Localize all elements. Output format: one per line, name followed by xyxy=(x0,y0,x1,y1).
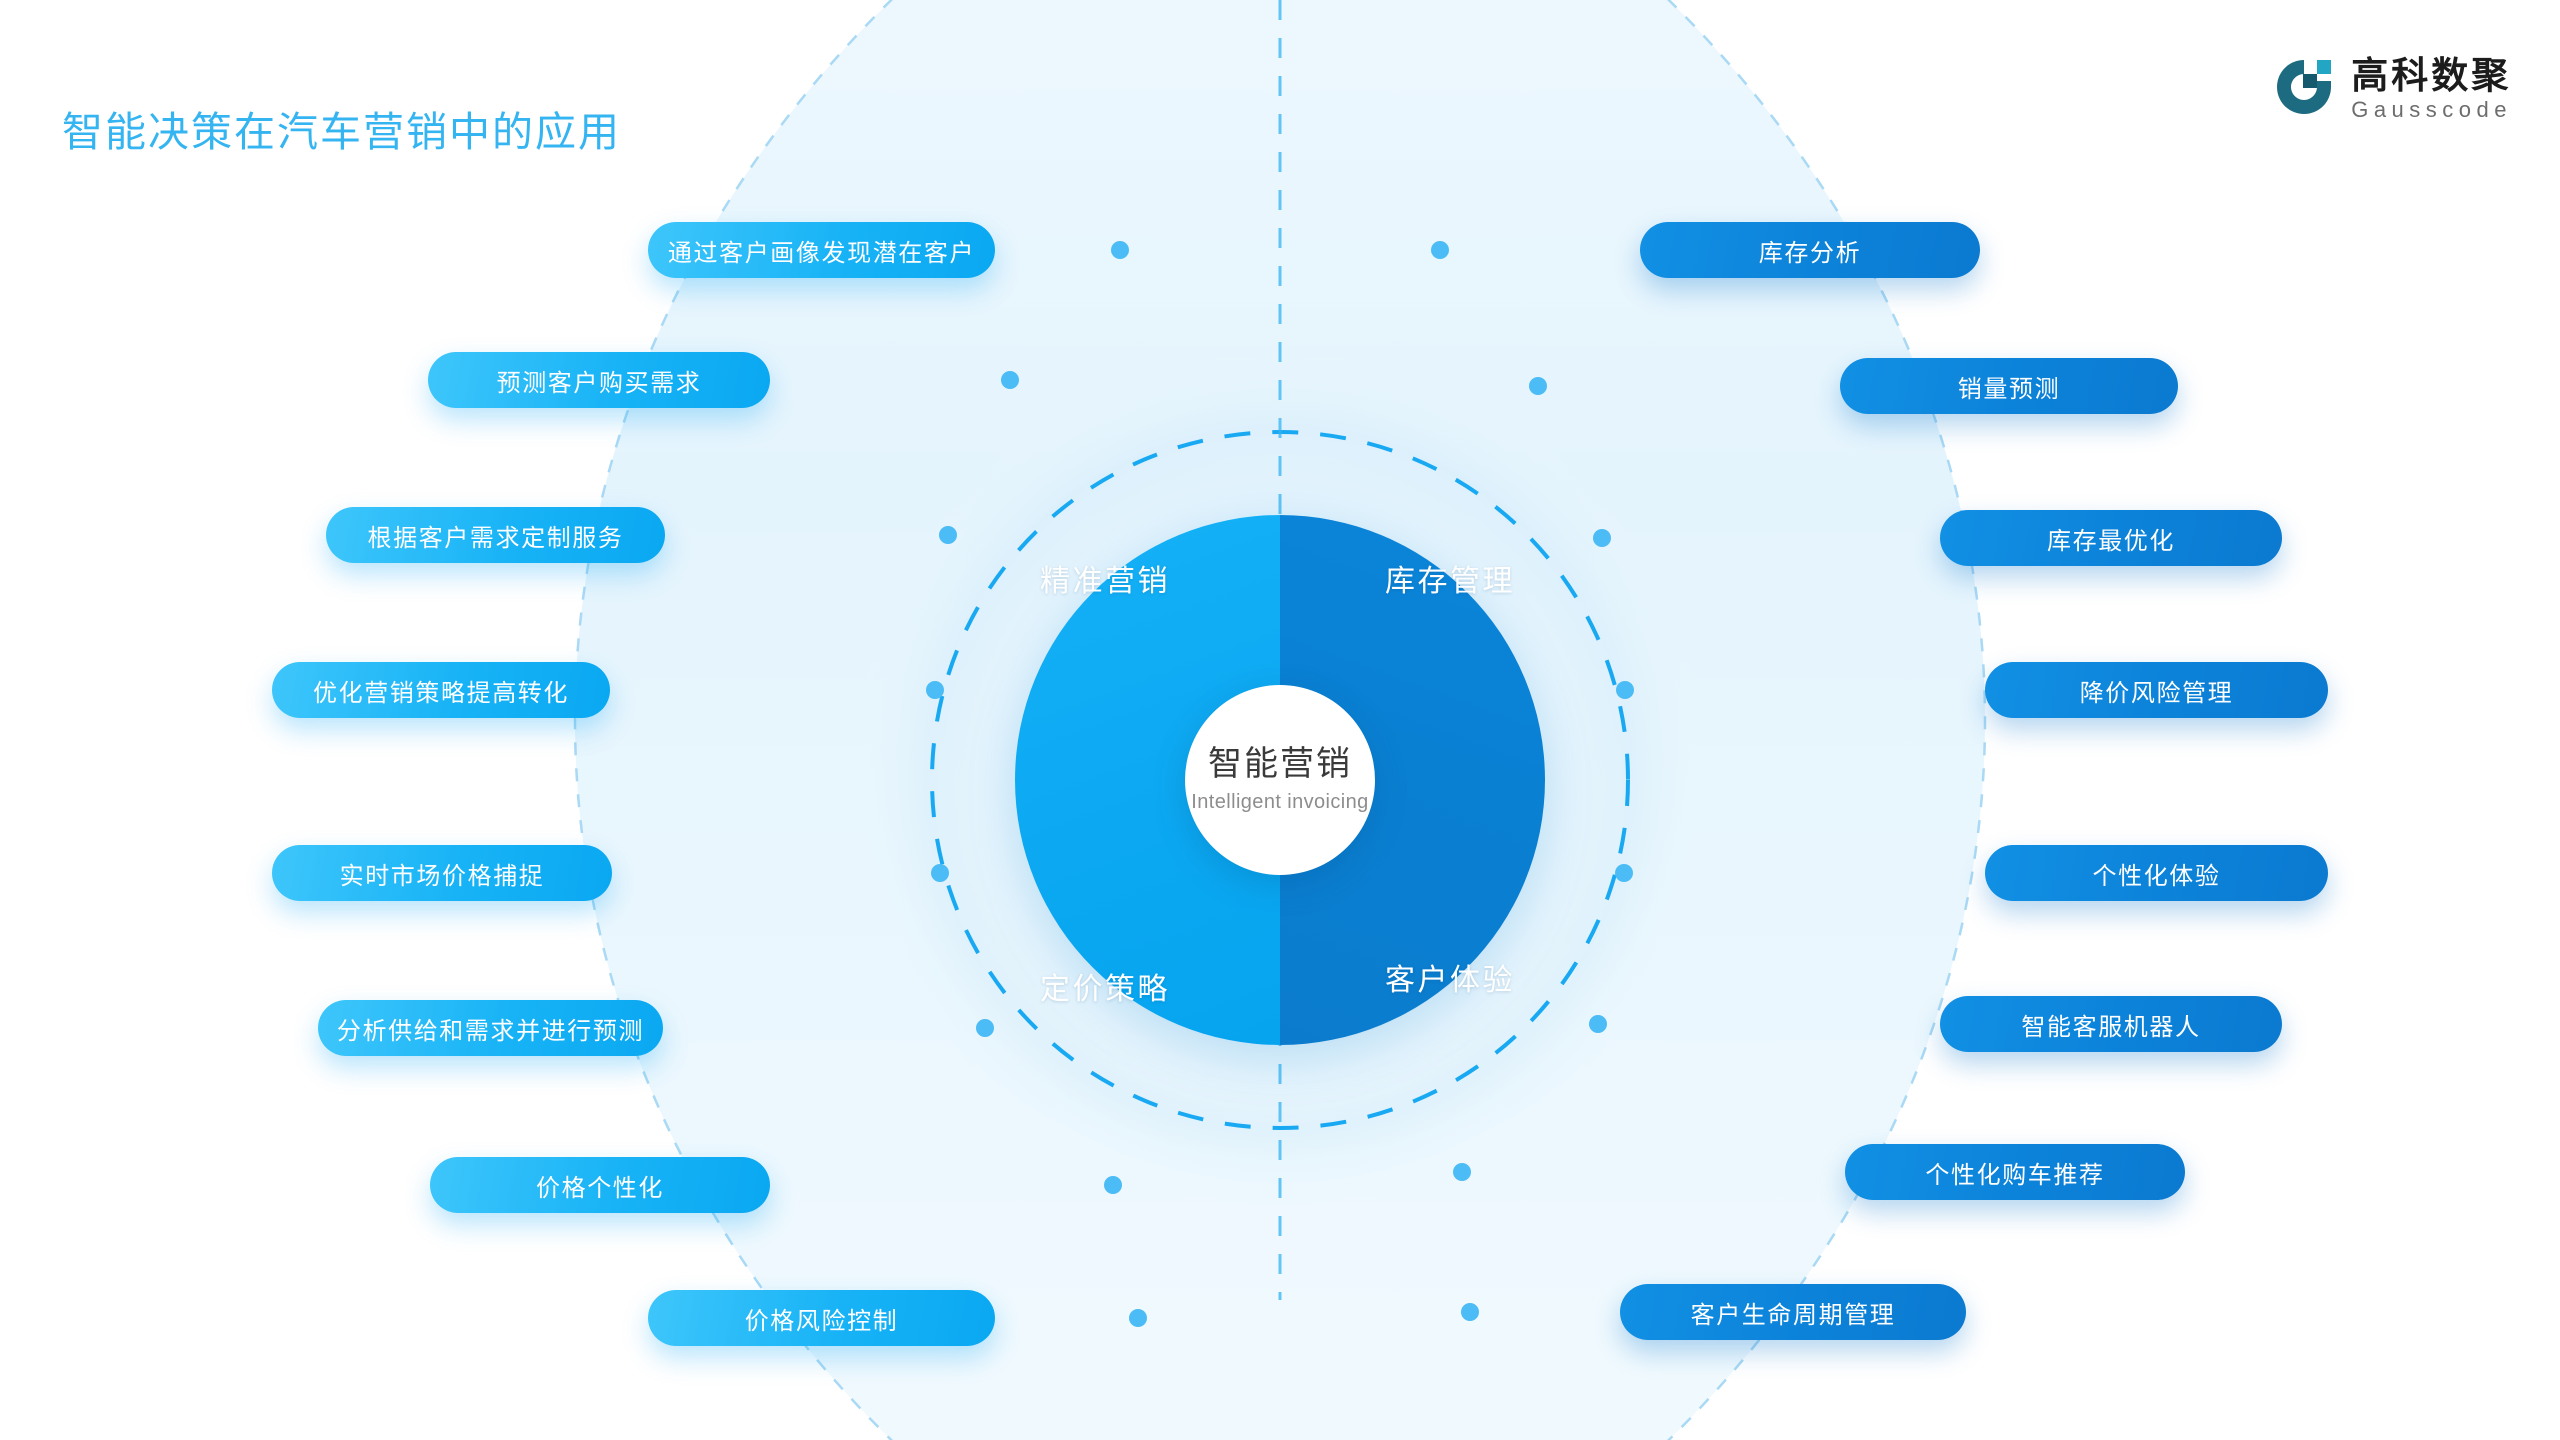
right-item-pill-8[interactable]: 客户生命周期管理 xyxy=(1620,1284,1966,1340)
left-item-pill-7[interactable]: 价格个性化 xyxy=(430,1157,770,1213)
left-item-pill-8[interactable]: 价格风险控制 xyxy=(648,1290,995,1346)
right-item-pill-3[interactable]: 库存最优化 xyxy=(1940,510,2282,566)
quadrant-label-top-right: 库存管理 xyxy=(1385,556,1515,600)
quadrant-label-top-left: 精准营销 xyxy=(1040,556,1170,600)
right-item-pill-4[interactable]: 降价风险管理 xyxy=(1985,662,2328,718)
center-title-cn: 智能营销 xyxy=(1208,746,1352,783)
right-item-pill-2[interactable]: 销量预测 xyxy=(1840,358,2178,414)
center-title-en: Intelligent invoicing xyxy=(1191,791,1368,814)
quadrant-label-bottom-right: 客户体验 xyxy=(1385,955,1515,999)
left-item-pill-3[interactable]: 根据客户需求定制服务 xyxy=(326,507,665,563)
left-item-pill-5[interactable]: 实时市场价格捕捉 xyxy=(272,845,612,901)
left-item-pill-6[interactable]: 分析供给和需求并进行预测 xyxy=(318,1000,663,1056)
logo-text-cn: 高科数聚 xyxy=(2351,57,2512,96)
infographic-canvas: 智能决策在汽车营销中的应用 高科数聚 Gausscode 智能营销 Intell… xyxy=(0,0,2560,1440)
donut-center-hub: 智能营销 Intelligent invoicing xyxy=(1185,685,1375,875)
left-item-pill-1[interactable]: 通过客户画像发现潜在客户 xyxy=(648,222,995,278)
gausscode-logo-icon xyxy=(2273,56,2335,118)
left-item-pill-4[interactable]: 优化营销策略提高转化 xyxy=(272,662,610,718)
right-item-pill-1[interactable]: 库存分析 xyxy=(1640,222,1980,278)
brand-logo: 高科数聚 Gausscode xyxy=(2273,56,2512,123)
quadrant-label-bottom-left: 定价策略 xyxy=(1040,964,1170,1008)
page-title: 智能决策在汽车营销中的应用 xyxy=(62,98,621,158)
logo-text-en: Gausscode xyxy=(2351,96,2512,124)
right-item-pill-5[interactable]: 个性化体验 xyxy=(1985,845,2328,901)
right-item-pill-6[interactable]: 智能客服机器人 xyxy=(1940,996,2282,1052)
left-item-pill-2[interactable]: 预测客户购买需求 xyxy=(428,352,770,408)
right-item-pill-7[interactable]: 个性化购车推荐 xyxy=(1845,1144,2185,1200)
